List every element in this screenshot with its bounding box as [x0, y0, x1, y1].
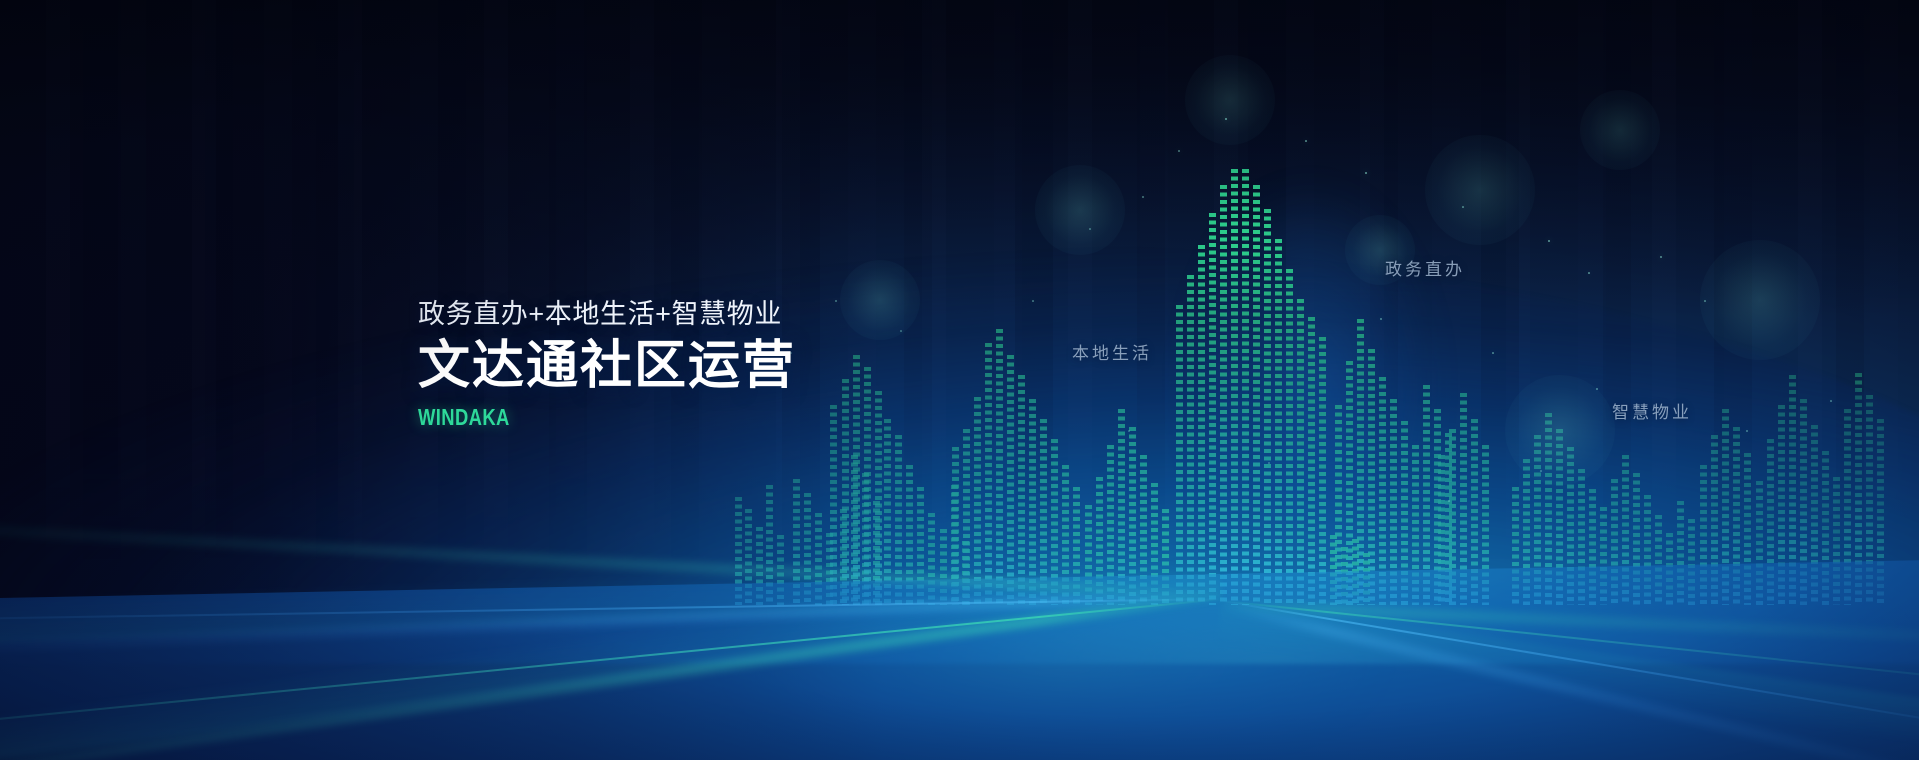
subtitle: 政务直办+本地生活+智慧物业 [418, 297, 978, 332]
bokeh-glow [1035, 165, 1125, 255]
bokeh-glow [1580, 90, 1660, 170]
sky-particle [1746, 430, 1748, 432]
sky-particle [1268, 462, 1270, 464]
city-label-smart-property: 智慧物业 [1612, 398, 1692, 423]
sky-particle [1178, 150, 1180, 152]
brand-name: WINDAKA [418, 404, 866, 431]
page-title: 文达通社区运营 [418, 339, 978, 394]
sky-particle [1830, 400, 1832, 402]
banner-stage: 政务直办+本地生活+智慧物业 文达通社区运营 WINDAKA 政务直办 本地生活… [0, 0, 1919, 760]
sky-particle [1548, 240, 1550, 242]
sky-particle [1305, 140, 1307, 142]
city-label-local-life: 本地生活 [1072, 339, 1152, 364]
headline-block: 政务直办+本地生活+智慧物业 文达通社区运营 WINDAKA [418, 297, 978, 431]
sky-particle [1492, 352, 1494, 354]
sky-particle [1128, 430, 1130, 432]
city-label-government: 政务直办 [1385, 255, 1465, 280]
sky-particle [1660, 256, 1662, 258]
bokeh-glow [1700, 240, 1820, 360]
sky-particle [1365, 172, 1367, 174]
bokeh-glow [1185, 55, 1275, 145]
sky-particle [1448, 500, 1450, 502]
bokeh-glow [1425, 135, 1535, 245]
sky-particle [1142, 196, 1144, 198]
sky-particle [1032, 300, 1034, 302]
bokeh-glow [1505, 375, 1615, 485]
sky-particle [1588, 272, 1590, 274]
sky-particle [1380, 318, 1382, 320]
